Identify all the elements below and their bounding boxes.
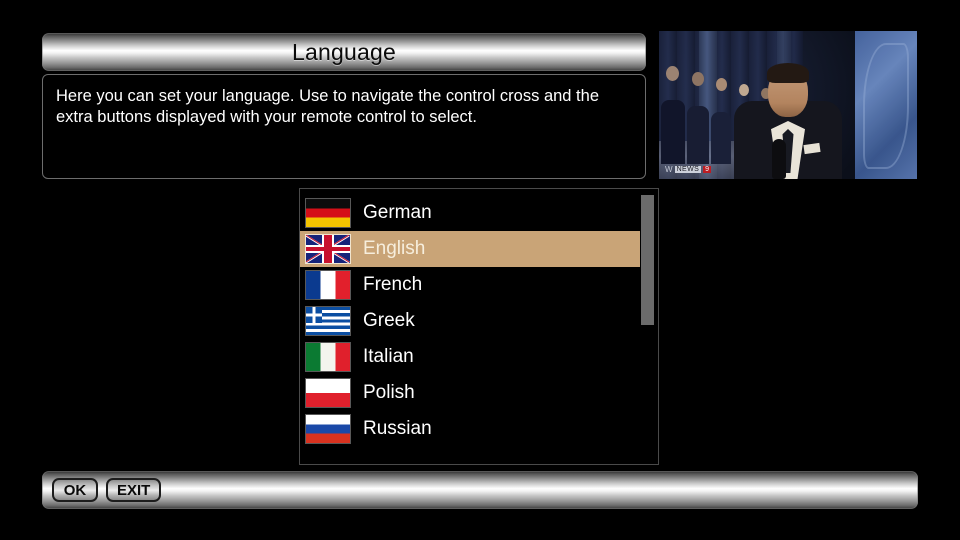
flag-united-kingdom-icon (306, 235, 350, 263)
description-text: Here you can set your language. Use to n… (56, 86, 632, 128)
microphone (772, 139, 786, 179)
list-item-german[interactable]: German (300, 195, 640, 231)
language-list: German English French Greek Italian (300, 195, 640, 447)
list-item-french[interactable]: French (300, 267, 640, 303)
list-item-greek[interactable]: Greek (300, 303, 640, 339)
video-preview[interactable]: W NEWS 9 (659, 31, 917, 179)
exit-button-label: EXIT (117, 482, 150, 499)
list-item-polish[interactable]: Polish (300, 375, 640, 411)
scrollbar-track[interactable] (641, 195, 654, 460)
flag-germany-icon (306, 199, 350, 227)
flag-russia-icon (306, 415, 350, 443)
bottom-button-bar: OK EXIT (42, 471, 918, 509)
exit-button[interactable]: EXIT (106, 478, 161, 502)
language-label: Polish (363, 382, 415, 404)
video-scene: W NEWS 9 (659, 31, 917, 179)
language-label: Italian (363, 346, 414, 368)
logo-mark: 9 (703, 166, 711, 173)
flag-france-icon (306, 271, 350, 299)
language-label: Russian (363, 418, 432, 440)
language-label: French (363, 274, 422, 296)
flag-poland-icon (306, 379, 350, 407)
logo-news: NEWS (675, 166, 702, 173)
reporter-hair (767, 63, 809, 83)
ok-button[interactable]: OK (52, 478, 98, 502)
scrollbar-thumb[interactable] (641, 195, 654, 325)
language-label: German (363, 202, 432, 224)
channel-logo: W NEWS 9 (665, 164, 711, 175)
logo-w: W (665, 165, 673, 174)
language-list-panel: German English French Greek Italian (299, 188, 659, 465)
ok-button-label: OK (64, 482, 87, 499)
wall-art-panel (855, 31, 917, 179)
list-item-russian[interactable]: Russian (300, 411, 640, 447)
tv-settings-screen: Language Here you can set your language.… (0, 0, 960, 540)
description-panel: Here you can set your language. Use to n… (42, 74, 646, 179)
flag-italy-icon (306, 343, 350, 371)
flag-greece-icon (306, 307, 350, 335)
language-label: English (363, 238, 425, 260)
language-label: Greek (363, 310, 415, 332)
page-title: Language (292, 39, 396, 66)
title-bar: Language (42, 33, 646, 71)
list-item-italian[interactable]: Italian (300, 339, 640, 375)
list-item-english[interactable]: English (300, 231, 640, 267)
